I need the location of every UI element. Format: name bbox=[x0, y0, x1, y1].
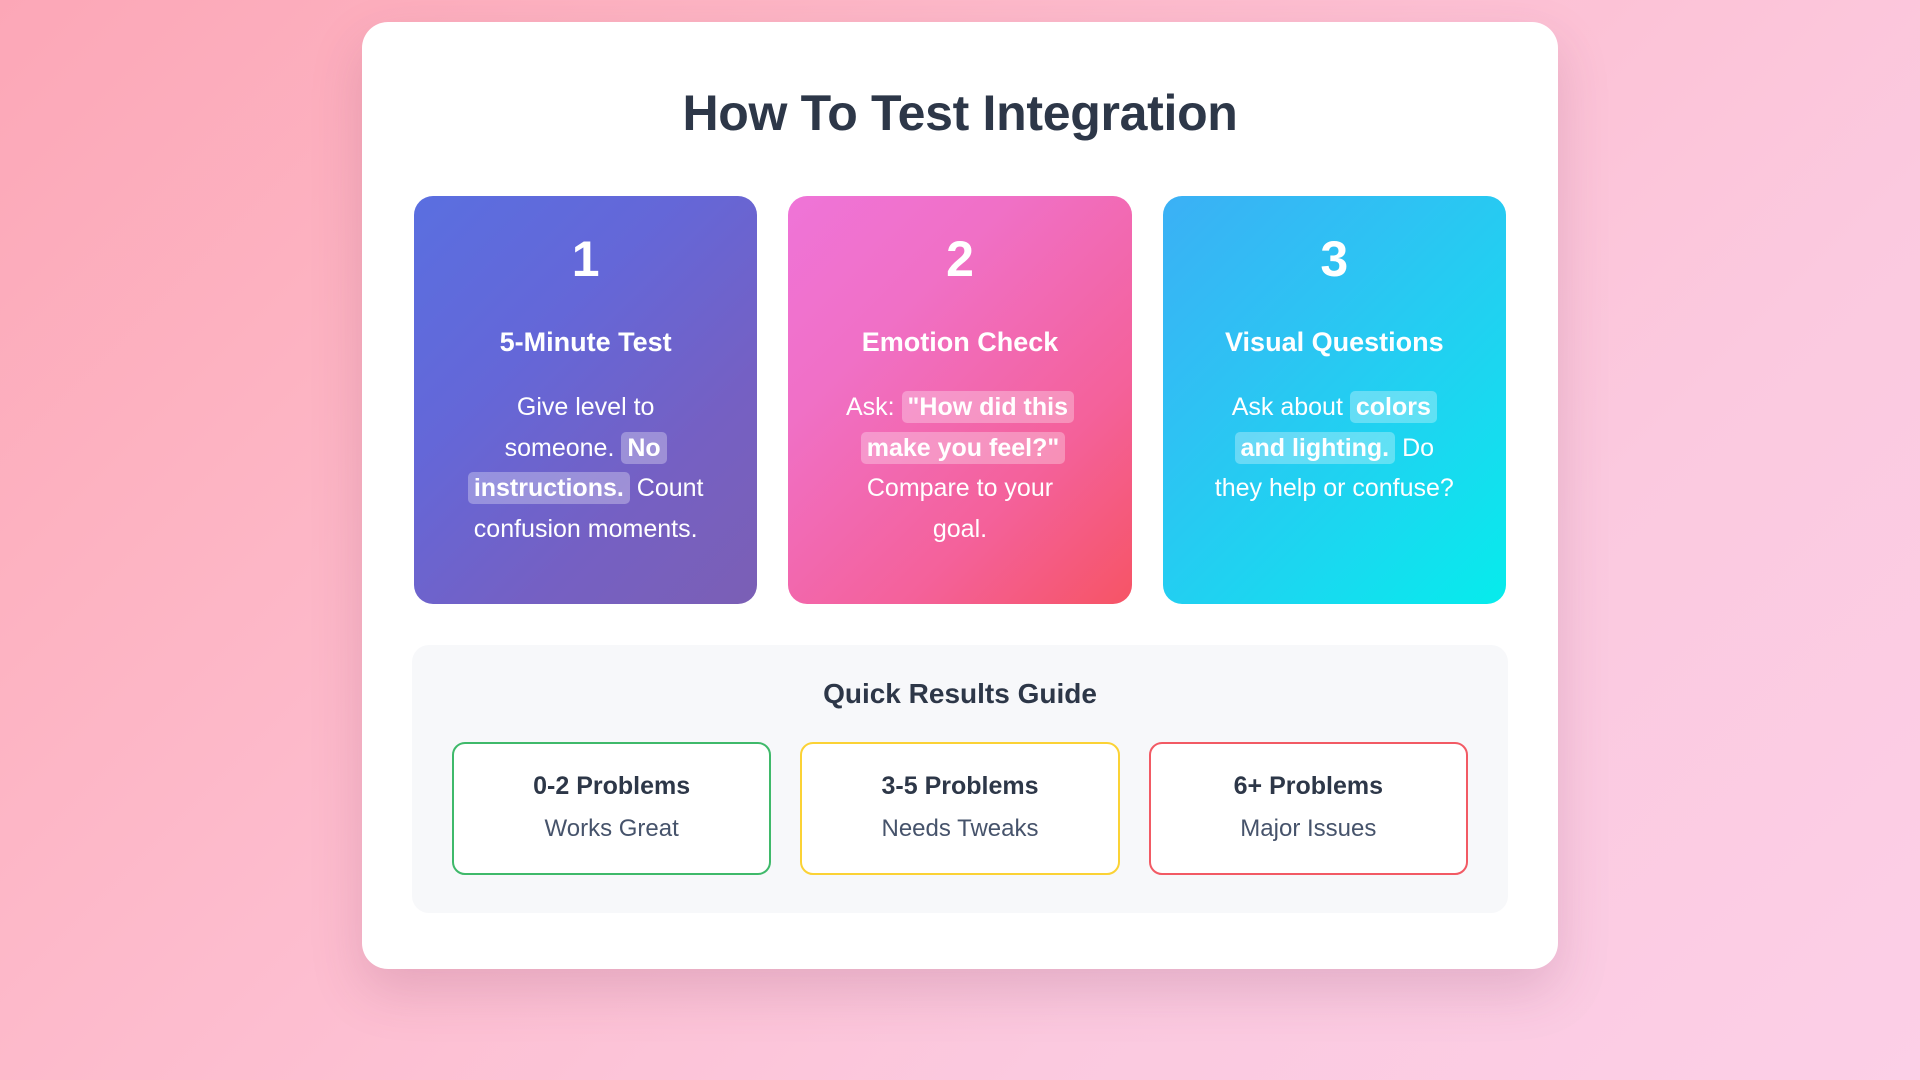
step-number: 3 bbox=[1320, 234, 1348, 284]
step-desc-before: Ask about bbox=[1232, 393, 1343, 421]
result-heading: 0-2 Problems bbox=[468, 771, 755, 801]
step-title: Visual Questions bbox=[1225, 326, 1444, 358]
content-panel: How To Test Integration 1 5-Minute Test … bbox=[362, 22, 1558, 969]
step-title: 5-Minute Test bbox=[500, 326, 672, 358]
step-description: Ask about colors and lighting. Do they h… bbox=[1212, 387, 1457, 509]
quick-results-guide: Quick Results Guide 0-2 Problems Works G… bbox=[412, 645, 1508, 913]
step-number: 1 bbox=[572, 234, 600, 284]
result-box-0-2-problems[interactable]: 0-2 Problems Works Great bbox=[452, 742, 771, 875]
step-card-1[interactable]: 1 5-Minute Test Give level to someone. N… bbox=[414, 196, 757, 604]
steps-row: 1 5-Minute Test Give level to someone. N… bbox=[412, 196, 1508, 604]
guide-title: Quick Results Guide bbox=[452, 677, 1468, 711]
step-desc-before: Ask: bbox=[846, 393, 895, 421]
step-desc-after: Compare to your goal. bbox=[867, 474, 1053, 543]
result-subtext: Works Great bbox=[468, 815, 755, 844]
page-background: How To Test Integration 1 5-Minute Test … bbox=[0, 0, 1920, 1080]
result-subtext: Needs Tweaks bbox=[816, 815, 1103, 844]
step-title: Emotion Check bbox=[862, 326, 1059, 358]
page-title: How To Test Integration bbox=[412, 62, 1508, 140]
step-description: Ask: "How did this make you feel?" Compa… bbox=[837, 387, 1082, 550]
result-subtext: Major Issues bbox=[1165, 815, 1452, 844]
step-card-2[interactable]: 2 Emotion Check Ask: "How did this make … bbox=[788, 196, 1131, 604]
step-card-3[interactable]: 3 Visual Questions Ask about colors and … bbox=[1163, 196, 1506, 604]
guide-results-row: 0-2 Problems Works Great 3-5 Problems Ne… bbox=[452, 742, 1468, 875]
step-number: 2 bbox=[946, 234, 974, 284]
result-heading: 6+ Problems bbox=[1165, 771, 1452, 801]
result-box-3-5-problems[interactable]: 3-5 Problems Needs Tweaks bbox=[800, 742, 1119, 875]
result-box-6-plus-problems[interactable]: 6+ Problems Major Issues bbox=[1149, 742, 1468, 875]
step-description: Give level to someone. No instructions. … bbox=[463, 387, 708, 550]
result-heading: 3-5 Problems bbox=[816, 771, 1103, 801]
